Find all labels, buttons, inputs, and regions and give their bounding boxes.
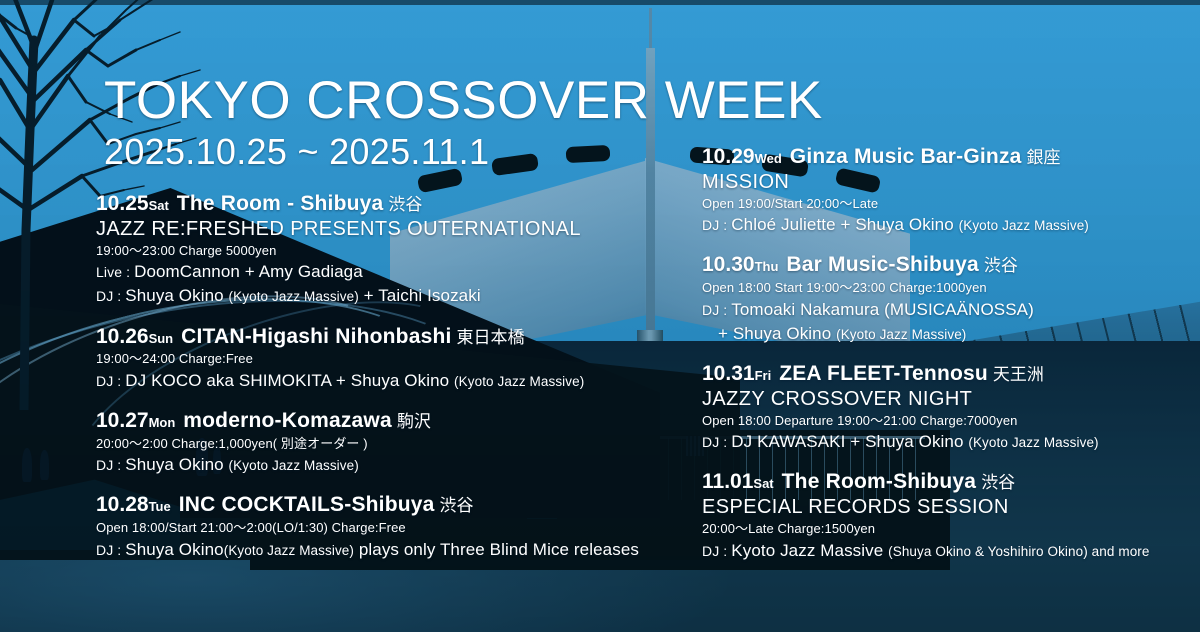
event-date: 10.26 xyxy=(96,325,149,348)
event-subtitle: JAZZ RE:FRESHED PRESENTS OUTERNATIONAL xyxy=(96,217,676,241)
lineup-artist-extra: plays only Three Blind Mice releases xyxy=(354,540,639,559)
event-venue-jp: 渋谷 xyxy=(981,473,1015,492)
event-venue: ZEA FLEET-Tennosu xyxy=(779,362,988,385)
event-day: Sun xyxy=(149,331,174,346)
event-venue: Bar Music-Shibuya xyxy=(786,253,978,276)
event-poster: TOKYO CROSSOVER WEEK 2025.10.25 ~ 2025.1… xyxy=(0,0,1200,632)
lineup-artist: + Shuya Okino xyxy=(718,324,836,343)
event-heading: 10.27Monmoderno-Komazawa駒沢 xyxy=(96,409,676,434)
event-lineup-line: DJ : Chloé Juliette + Shuya Okino (Kyoto… xyxy=(702,213,1172,237)
event-lineup-line: DJ : Kyoto Jazz Massive (Shuya Okino & Y… xyxy=(702,539,1172,563)
event-entry: 10.28TueINC COCKTAILS-Shibuya渋谷Open 18:0… xyxy=(96,493,676,561)
event-time-charge: 20:00〜Late Charge:1500yen xyxy=(702,519,1172,539)
lineup-affiliation: (Shuya Okino & Yoshihiro Okino) and more xyxy=(888,544,1149,559)
lineup-label: DJ : xyxy=(96,542,125,558)
event-entry: 10.27Monmoderno-Komazawa駒沢20:00〜2:00 Cha… xyxy=(96,409,676,477)
event-venue-jp: 駒沢 xyxy=(397,412,431,431)
event-venue-jp: 天王洲 xyxy=(993,365,1044,384)
lineup-label: DJ : xyxy=(96,288,125,304)
lineup-label: DJ : xyxy=(702,217,731,233)
event-date: 10.28 xyxy=(96,493,149,516)
lineup-label: DJ : xyxy=(96,457,125,473)
event-venue-jp: 東日本橋 xyxy=(457,328,525,347)
event-entry: 11.01SatThe Room-Shibuya渋谷ESPECIAL RECOR… xyxy=(702,470,1172,562)
event-heading: 10.31FriZEA FLEET-Tennosu天王洲 xyxy=(702,362,1172,387)
event-list-left: 10.25SatThe Room - Shibuya渋谷JAZZ RE:FRES… xyxy=(96,192,676,578)
event-day: Sat xyxy=(149,198,169,213)
lineup-affiliation: (Kyoto Jazz Massive) xyxy=(836,327,966,342)
lineup-affiliation: (Kyoto Jazz Massive) xyxy=(959,218,1089,233)
lineup-affiliation: (Kyoto Jazz Massive) xyxy=(968,435,1098,450)
event-lineup-line: DJ : DJ KAWASAKI + Shuya Okino (Kyoto Ja… xyxy=(702,430,1172,454)
event-lineup-line: DJ : Shuya Okino(Kyoto Jazz Massive) pla… xyxy=(96,538,676,562)
date-range: 2025.10.25 ~ 2025.11.1 xyxy=(104,134,489,170)
event-time-charge: 19:00〜24:00 Charge:Free xyxy=(96,349,676,369)
event-venue-jp: 渋谷 xyxy=(984,256,1018,275)
lineup-label: DJ : xyxy=(702,543,731,559)
event-date: 10.25 xyxy=(96,192,149,215)
event-time-charge: Open 19:00/Start 20:00〜Late xyxy=(702,194,1172,214)
event-heading: 10.28TueINC COCKTAILS-Shibuya渋谷 xyxy=(96,493,676,518)
lineup-affiliation: (Kyoto Jazz Massive) xyxy=(454,374,584,389)
lineup-affiliation: (Kyoto Jazz Massive) xyxy=(229,458,359,473)
event-venue-jp: 渋谷 xyxy=(388,195,422,214)
lineup-affiliation: (Kyoto Jazz Massive) xyxy=(224,543,354,558)
event-venue: CITAN-Higashi Nihonbashi xyxy=(181,325,451,348)
event-entry: 10.29WedGinza Music Bar-Ginza銀座MISSIONOp… xyxy=(702,145,1172,237)
event-heading: 10.26SunCITAN-Higashi Nihonbashi東日本橋 xyxy=(96,325,676,350)
event-time-charge: Open 18:00 Start 19:00〜23:00 Charge:1000… xyxy=(702,278,1172,298)
event-venue: moderno-Komazawa xyxy=(183,409,392,432)
lineup-artist: Tomoaki Nakamura (MUSICAÄNOSSA) xyxy=(731,300,1034,319)
event-heading: 10.29WedGinza Music Bar-Ginza銀座 xyxy=(702,145,1172,170)
event-subtitle: MISSION xyxy=(702,170,1172,194)
lineup-artist-extra: + Taichi Isozaki xyxy=(359,286,481,305)
event-lineup-line: DJ : DJ KOCO aka SHIMOKITA + Shuya Okino… xyxy=(96,369,676,393)
lineup-artist: Chloé Juliette + Shuya Okino xyxy=(731,215,958,234)
event-day: Wed xyxy=(755,151,782,166)
lineup-artist: Shuya Okino xyxy=(125,286,228,305)
lineup-label: DJ : xyxy=(702,302,731,318)
event-date: 10.31 xyxy=(702,362,755,385)
event-time-charge: 20:00〜2:00 Charge:1,000yen( 別途オーダー ) xyxy=(96,434,676,454)
lineup-artist: Shuya Okino xyxy=(125,455,228,474)
lineup-artist: DJ KOCO aka SHIMOKITA + Shuya Okino xyxy=(125,371,454,390)
lineup-artist: Shuya Okino xyxy=(125,540,223,559)
event-venue: INC COCKTAILS-Shibuya xyxy=(179,493,435,516)
event-time-charge: Open 18:00 Departure 19:00〜21:00 Charge:… xyxy=(702,411,1172,431)
event-subtitle: ESPECIAL RECORDS SESSION xyxy=(702,495,1172,519)
event-lineup-line: DJ : Shuya Okino (Kyoto Jazz Massive) + … xyxy=(96,284,676,308)
event-day: Sat xyxy=(753,476,773,491)
event-entry: 10.30ThuBar Music-Shibuya渋谷Open 18:00 St… xyxy=(702,253,1172,346)
event-day: Tue xyxy=(149,499,171,514)
event-heading: 10.30ThuBar Music-Shibuya渋谷 xyxy=(702,253,1172,278)
lineup-label: DJ : xyxy=(96,373,125,389)
lineup-label: DJ : xyxy=(702,434,731,450)
event-day: Mon xyxy=(149,415,176,430)
event-time-charge: 19:00〜23:00 Charge 5000yen xyxy=(96,241,676,261)
event-date: 10.27 xyxy=(96,409,149,432)
lineup-affiliation: (Kyoto Jazz Massive) xyxy=(229,289,359,304)
lineup-artist: DJ KAWASAKI + Shuya Okino xyxy=(731,432,968,451)
event-venue: The Room-Shibuya xyxy=(782,470,977,493)
event-entry: 10.26SunCITAN-Higashi Nihonbashi東日本橋19:0… xyxy=(96,325,676,393)
event-venue: The Room - Shibuya xyxy=(177,192,384,215)
event-lineup-line: + Shuya Okino (Kyoto Jazz Massive) xyxy=(702,322,1172,346)
event-venue-jp: 銀座 xyxy=(1027,148,1061,167)
event-venue-jp: 渋谷 xyxy=(440,496,474,515)
event-entry: 10.25SatThe Room - Shibuya渋谷JAZZ RE:FRES… xyxy=(96,192,676,309)
event-lineup-line: DJ : Shuya Okino (Kyoto Jazz Massive) xyxy=(96,453,676,477)
event-time-charge: Open 18:00/Start 21:00〜2:00(LO/1:30) Cha… xyxy=(96,518,676,538)
event-day: Fri xyxy=(755,368,772,383)
event-list-right: 10.29WedGinza Music Bar-Ginza銀座MISSIONOp… xyxy=(702,145,1172,579)
event-date: 10.29 xyxy=(702,145,755,168)
event-lineup-line: DJ : Tomoaki Nakamura (MUSICAÄNOSSA) xyxy=(702,298,1172,322)
poster-content: TOKYO CROSSOVER WEEK 2025.10.25 ~ 2025.1… xyxy=(0,0,1200,632)
event-date: 10.30 xyxy=(702,253,755,276)
event-venue: Ginza Music Bar-Ginza xyxy=(790,145,1022,168)
event-heading: 11.01SatThe Room-Shibuya渋谷 xyxy=(702,470,1172,495)
lineup-artist: DoomCannon + Amy Gadiaga xyxy=(134,262,363,281)
event-entry: 10.31FriZEA FLEET-Tennosu天王洲JAZZY CROSSO… xyxy=(702,362,1172,454)
event-lineup-line: Live : DoomCannon + Amy Gadiaga xyxy=(96,260,676,284)
event-heading: 10.25SatThe Room - Shibuya渋谷 xyxy=(96,192,676,217)
event-subtitle: JAZZY CROSSOVER NIGHT xyxy=(702,387,1172,411)
event-day: Thu xyxy=(755,259,779,274)
lineup-artist: Kyoto Jazz Massive xyxy=(731,541,888,560)
event-date: 11.01 xyxy=(702,470,753,493)
lineup-label: Live : xyxy=(96,264,134,280)
page-title: TOKYO CROSSOVER WEEK xyxy=(104,74,823,127)
